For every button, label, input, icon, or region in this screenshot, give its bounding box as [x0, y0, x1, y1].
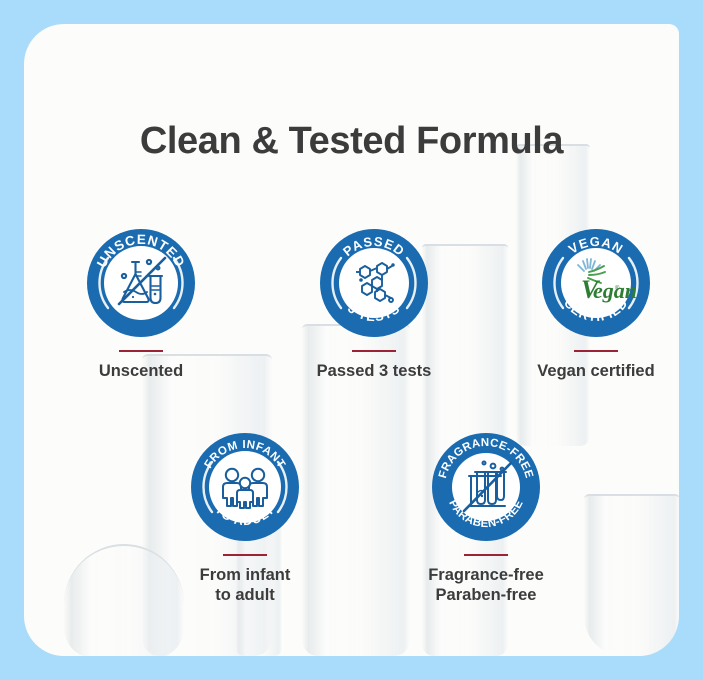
badge-item-from-infant-to-adult: FROM INFANT TO ADULT — [145, 432, 345, 605]
divider-rule — [464, 554, 508, 556]
badge-caption: Passed 3 tests — [274, 361, 474, 381]
badge-caption: Unscented — [41, 361, 241, 381]
badge-fragrance-free-paraben-free: FRAGRANCE-FREE PARABEN-FREE — [431, 432, 541, 542]
badge-item-fragrance-free-paraben-free: FRAGRANCE-FREE PARABEN-FREE — [386, 432, 586, 605]
badge-grid: UNSCENTED — [24, 24, 679, 656]
divider-rule — [119, 350, 163, 352]
divider-rule — [574, 350, 618, 352]
divider-rule — [352, 350, 396, 352]
vegan-logo-registered-mark: ® — [615, 285, 620, 292]
badge-item-unscented: UNSCENTED — [41, 228, 241, 381]
badge-caption: From infant to adult — [145, 565, 345, 605]
badge-passed-3-tests: PASSED 3 TESTS — [319, 228, 429, 338]
divider-rule — [223, 554, 267, 556]
badge-item-vegan-certified: VEGAN CERTIFIED — [496, 228, 679, 381]
promo-graphic: Clean & Tested Formula UNSCENTED — [0, 0, 703, 680]
badge-caption: Vegan certified — [496, 361, 679, 381]
content-card: Clean & Tested Formula UNSCENTED — [24, 24, 679, 656]
badge-unscented: UNSCENTED — [86, 228, 196, 338]
badge-caption: Fragrance-free Paraben-free — [386, 565, 586, 605]
badge-from-infant-to-adult: FROM INFANT TO ADULT — [190, 432, 300, 542]
badge-vegan-certified: VEGAN CERTIFIED — [541, 228, 651, 338]
badge-item-passed-3-tests: PASSED 3 TESTS — [274, 228, 474, 381]
